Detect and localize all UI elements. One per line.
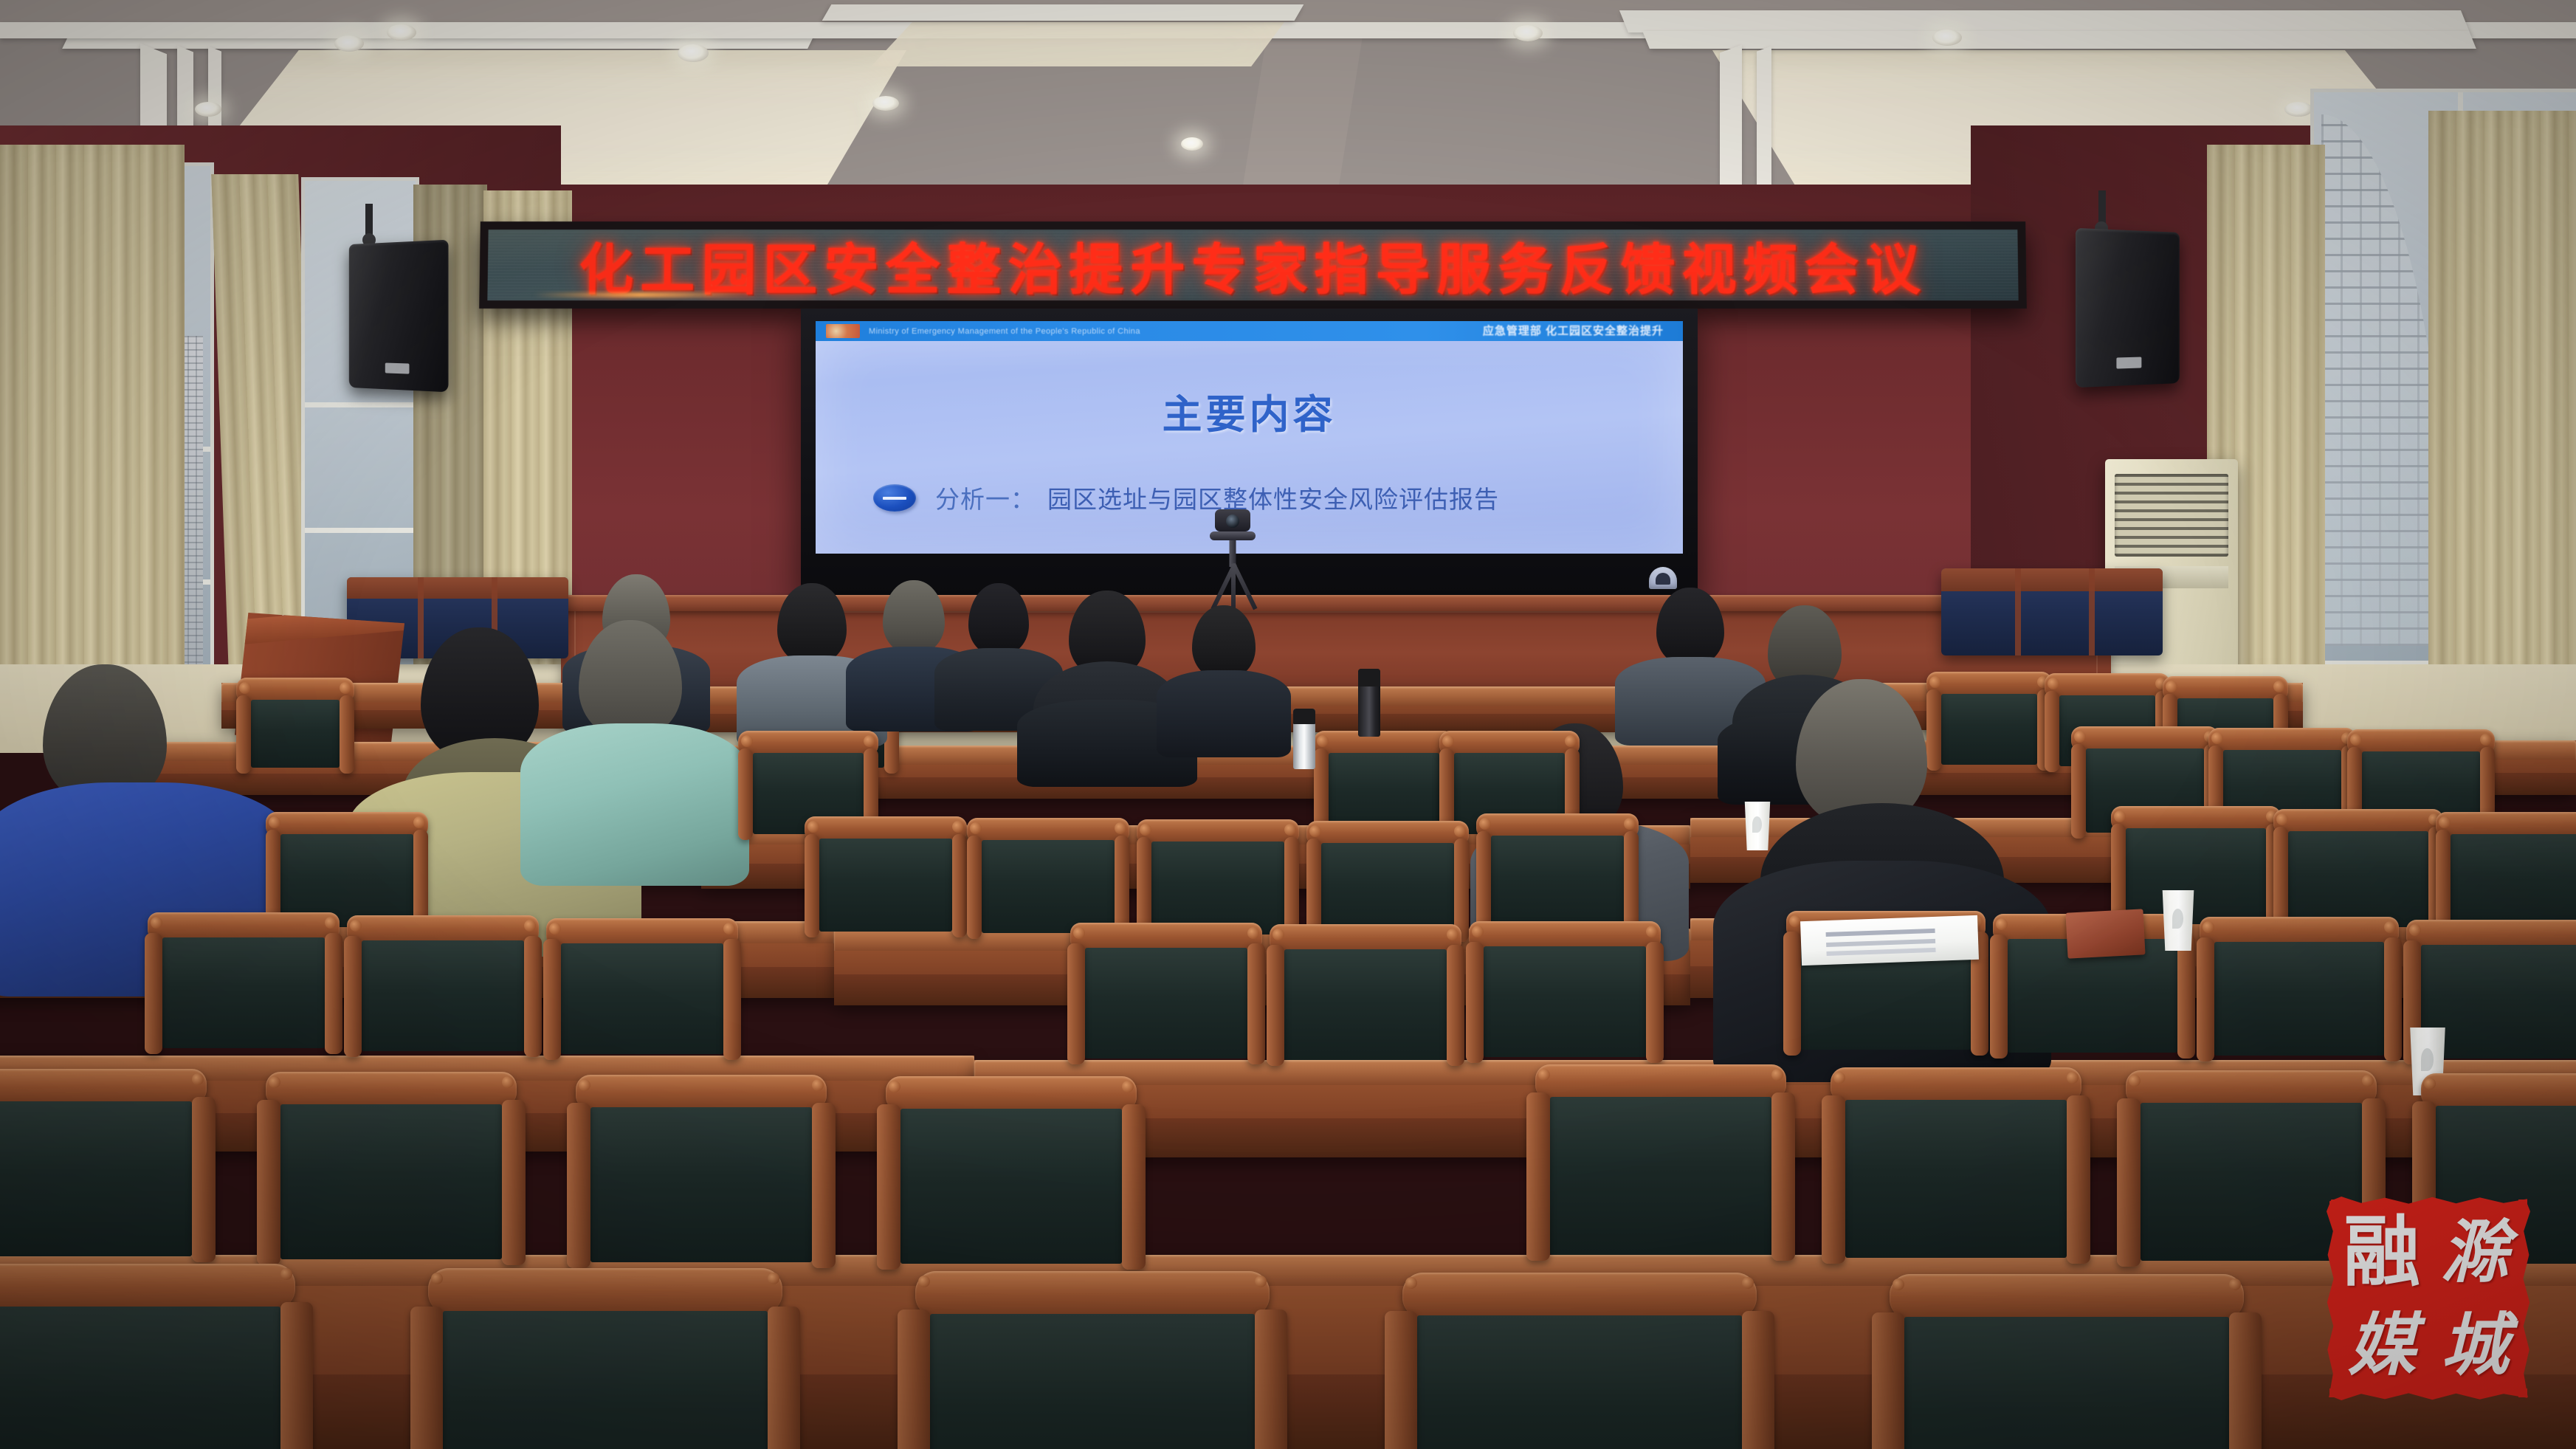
- bullet-1-label: 分析一：: [935, 480, 1036, 515]
- curtain-far-right: [2428, 111, 2576, 738]
- chair-nearest-4[interactable]: [1417, 1315, 1742, 1449]
- chair-foreground-6[interactable]: [1845, 1100, 2067, 1258]
- chair-row-c-3[interactable]: [982, 840, 1115, 933]
- chair-nearest-1[interactable]: [0, 1307, 280, 1449]
- bullet-mark-one-icon: [873, 484, 916, 512]
- document-papers[interactable]: [1800, 915, 1979, 966]
- slide-header-bar: Ministry of Emergency Management of the …: [816, 321, 1683, 341]
- chair-row-d-5[interactable]: [1284, 949, 1447, 1060]
- seal-char-3: 媒: [2348, 1311, 2416, 1379]
- downlight: [1181, 137, 1203, 151]
- speaker-bracket-left: [365, 204, 373, 236]
- downlight: [2284, 102, 2312, 117]
- wall-speaker-right: [2076, 228, 2180, 388]
- wall-speaker-left: [349, 240, 449, 393]
- chair-row-c-7[interactable]: [2126, 828, 2266, 924]
- thermos-flask-steel[interactable]: [1293, 709, 1315, 769]
- downlight: [195, 102, 221, 117]
- bullet-1-text: 园区选址与园区整体性安全风险评估报告: [1047, 480, 1499, 515]
- chair-row-d-9[interactable]: [2214, 942, 2384, 1056]
- attendee-5-head: [777, 583, 847, 664]
- chair-nearest-2[interactable]: [443, 1311, 768, 1449]
- led-banner: 化工园区安全整治提升专家指导服务反馈视频会议: [479, 221, 2027, 309]
- slide-header-english: Ministry of Emergency Management of the …: [869, 327, 1140, 336]
- seal-char-1: 融: [2343, 1214, 2420, 1290]
- video-camera-body: [1215, 509, 1250, 531]
- conference-room-photo: 化工园区安全整治提升专家指导服务反馈视频会议 Ministry of Emerg…: [0, 0, 2576, 1449]
- video-camera-tripod: [1196, 509, 1270, 613]
- attendee-9-head: [1192, 605, 1256, 679]
- downlight: [678, 44, 709, 62]
- attendee-9-torso: [1157, 670, 1291, 757]
- attendee-3: [517, 620, 753, 871]
- attendee-9: [1157, 605, 1290, 753]
- chair-row-c-5[interactable]: [1321, 843, 1454, 936]
- chair-row-c-4[interactable]: [1151, 841, 1284, 935]
- slide-title: 主要内容: [816, 382, 1683, 440]
- attendee-3-torso: [520, 723, 749, 886]
- paper-cup-2[interactable]: [2159, 890, 2197, 951]
- curtain-far-left: [0, 145, 185, 743]
- downlight: [387, 24, 416, 41]
- chair-foreground-4[interactable]: [900, 1109, 1122, 1264]
- chair-row-c-9[interactable]: [2451, 834, 2576, 930]
- downlight: [872, 96, 899, 111]
- chair-row-c-2[interactable]: [819, 839, 952, 932]
- chair-foreground-2[interactable]: [280, 1104, 502, 1259]
- attendee-3-head: [579, 620, 682, 738]
- chair-row-d-2[interactable]: [362, 940, 524, 1051]
- chair-foreground-5[interactable]: [1550, 1097, 1771, 1255]
- attendee-10-head: [1656, 588, 1724, 666]
- paper-cup-1[interactable]: [1742, 802, 1773, 850]
- downlight: [334, 35, 364, 52]
- chair-row-c-8[interactable]: [2288, 831, 2428, 927]
- chair-nearest-5[interactable]: [1904, 1317, 2229, 1449]
- chair-foreground-7[interactable]: [2141, 1103, 2362, 1261]
- chair-foreground-3[interactable]: [590, 1107, 812, 1262]
- camera-lens-icon: [1226, 514, 1239, 528]
- seal-char-4: 城: [2441, 1311, 2509, 1379]
- chair-foreground-1[interactable]: [0, 1101, 192, 1256]
- leather-notebook[interactable]: [2065, 909, 2145, 958]
- thermos-flask-black[interactable]: [1358, 669, 1380, 737]
- seal-char-2: 滁: [2441, 1218, 2509, 1286]
- chair-row-d-4[interactable]: [1085, 948, 1247, 1059]
- speaker-bracket-right: [2098, 190, 2106, 224]
- downlight: [1513, 25, 1543, 41]
- broadcaster-watermark-seal: 融 滁 媒 城: [2335, 1205, 2521, 1391]
- leather-bench-right: [1941, 568, 2163, 655]
- screen-brand-emblem-icon: [1649, 567, 1677, 589]
- slide-header-chinese: 应急管理部 化工园区安全整治提升: [1483, 323, 1664, 338]
- chair-row-d-3[interactable]: [561, 943, 723, 1054]
- chair-row-d-1[interactable]: [162, 937, 325, 1048]
- downlight: [1932, 30, 1962, 46]
- chair-nearest-3[interactable]: [930, 1314, 1255, 1449]
- chair-row-d-6[interactable]: [1484, 946, 1646, 1057]
- national-emblem-icon: [826, 324, 860, 338]
- chair-row-c-6[interactable]: [1491, 836, 1624, 929]
